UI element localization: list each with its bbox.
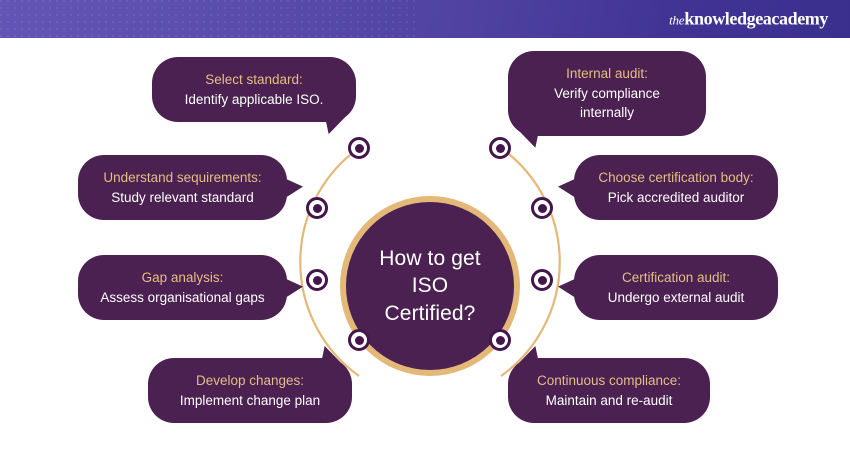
diagram-canvas: theknowledgeacademy How to get ISO Certi… xyxy=(0,0,850,450)
step-callout-internal-audit[interactable]: Internal audit: Verify compliance intern… xyxy=(508,51,706,136)
brand-logo-the: the xyxy=(669,13,684,28)
header-dot-texture xyxy=(0,0,420,38)
step-title: Continuous compliance: xyxy=(526,371,692,391)
step-marker-5[interactable] xyxy=(489,137,511,159)
step-marker-6[interactable] xyxy=(531,197,553,219)
step-callout-continuous-compliance[interactable]: Continuous compliance: Maintain and re-a… xyxy=(508,358,710,423)
step-callout-understand-requirements[interactable]: Understand sequirements: Study relevant … xyxy=(78,155,287,220)
bubble-tail-icon xyxy=(558,277,580,301)
step-description: Identify applicable ISO. xyxy=(170,90,338,110)
step-description: Assess organisational gaps xyxy=(96,288,269,308)
bubble-tail-icon xyxy=(558,177,580,201)
step-title: Choose certification body: xyxy=(592,168,760,188)
step-description: Maintain and re-audit xyxy=(526,391,692,411)
bubble-tail-icon xyxy=(324,112,350,134)
diagram-body: How to get ISO Certified? Select standar… xyxy=(0,38,850,450)
step-description: Implement change plan xyxy=(166,391,334,411)
step-title: Select standard: xyxy=(170,70,338,90)
step-marker-4[interactable] xyxy=(348,329,370,351)
step-callout-select-standard[interactable]: Select standard: Identify applicable ISO… xyxy=(152,57,356,122)
brand-logo: theknowledgeacademy xyxy=(669,10,828,29)
step-marker-3[interactable] xyxy=(306,269,328,291)
bubble-tail-icon xyxy=(281,177,303,201)
bubble-tail-icon xyxy=(320,346,346,368)
brand-logo-main: knowledgeacademy xyxy=(684,9,828,29)
step-callout-develop-changes[interactable]: Develop changes: Implement change plan xyxy=(148,358,352,423)
center-hub-title: How to get ISO Certified? xyxy=(350,245,510,327)
step-callout-certification-audit[interactable]: Certification audit: Undergo external au… xyxy=(574,255,778,320)
step-callout-choose-certification-body[interactable]: Choose certification body: Pick accredit… xyxy=(574,155,778,220)
step-marker-7[interactable] xyxy=(531,269,553,291)
step-marker-1[interactable] xyxy=(348,137,370,159)
bubble-tail-icon xyxy=(514,346,540,368)
step-title: Develop changes: xyxy=(166,371,334,391)
step-title: Understand sequirements: xyxy=(96,168,269,188)
step-description: Undergo external audit xyxy=(592,288,760,308)
step-title: Certification audit: xyxy=(592,268,760,288)
page-header: theknowledgeacademy xyxy=(0,0,850,38)
step-title: Gap analysis: xyxy=(96,268,269,288)
step-description: Pick accredited auditor xyxy=(592,188,760,208)
step-title: Internal audit: xyxy=(526,64,688,84)
step-marker-8[interactable] xyxy=(489,329,511,351)
step-description: Verify compliance internally xyxy=(526,84,688,123)
bubble-tail-icon xyxy=(514,126,540,148)
bubble-tail-icon xyxy=(281,277,303,301)
step-callout-gap-analysis[interactable]: Gap analysis: Assess organisational gaps xyxy=(78,255,287,320)
step-description: Study relevant standard xyxy=(96,188,269,208)
step-marker-2[interactable] xyxy=(306,197,328,219)
